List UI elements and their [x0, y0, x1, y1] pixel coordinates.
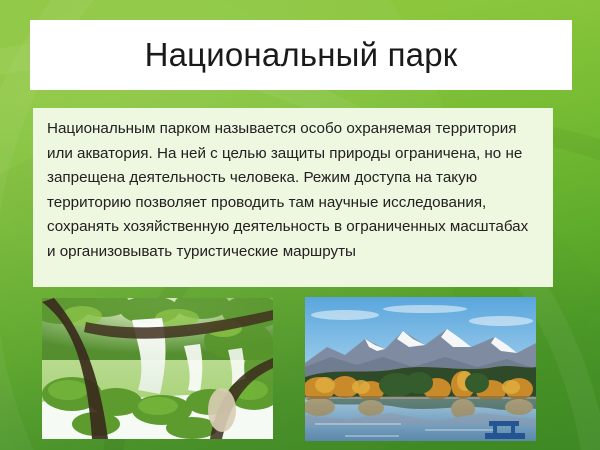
presentation-slide: Национальный парк Национальным парком на… — [0, 0, 600, 450]
slide-title-box: Национальный парк — [30, 20, 572, 90]
mountain-lake-autumn-photo — [305, 297, 536, 441]
page-title: Национальный парк — [145, 37, 458, 73]
slide-body-box: Национальным парком называется особо охр… — [33, 108, 553, 287]
waterfall-mossy-rocks-photo — [42, 298, 273, 439]
waterfall-illustration — [42, 298, 273, 439]
mountain-lake-illustration — [305, 297, 536, 441]
body-paragraph: Национальным парком называется особо охр… — [47, 117, 539, 265]
